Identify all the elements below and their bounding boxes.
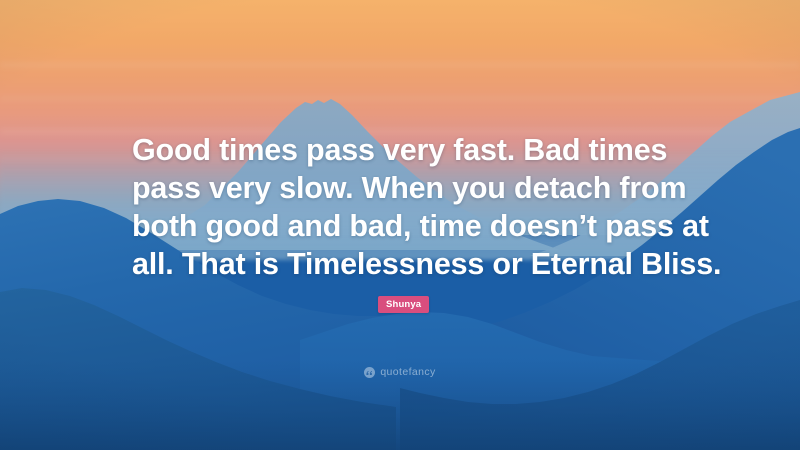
quote-text: Good times pass very fast. Bad times pas… — [132, 131, 680, 283]
watermark[interactable]: quotefancy — [0, 366, 800, 378]
quote-line: pass very slow. When you detach from — [132, 169, 680, 207]
quote-line: all. That is Timelessness or Eternal Bli… — [132, 245, 680, 283]
quote-wallpaper: Good times pass very fast. Bad times pas… — [0, 0, 800, 450]
quote-line: Good times pass very fast. Bad times — [132, 131, 680, 169]
watermark-label: quotefancy — [380, 366, 435, 378]
quote-mark-circle-icon — [364, 367, 375, 378]
author-badge[interactable]: Shunya — [378, 296, 429, 313]
quote-line: both good and bad, time doesn’t pass at — [132, 207, 680, 245]
author-name: Shunya — [386, 299, 421, 310]
